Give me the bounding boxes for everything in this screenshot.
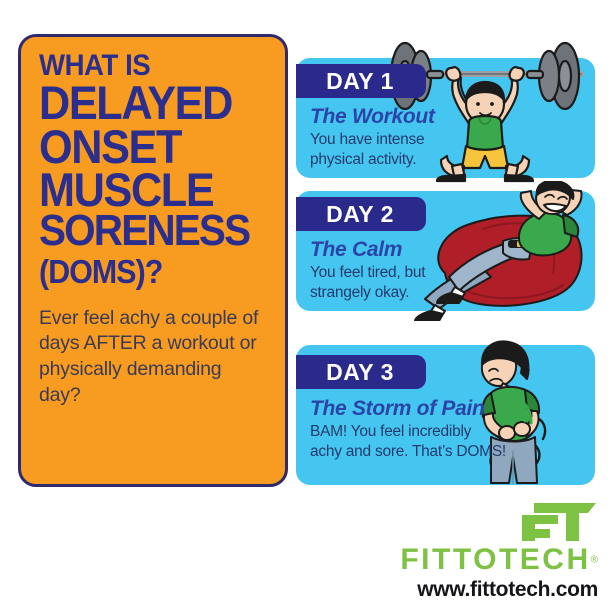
day-panel-3: DAY 3 The Storm of Pain BAM! You feel in… [296,345,595,485]
question-card-body: Ever feel achy a couple of days AFTER a … [39,306,267,409]
day-2-badge-label: DAY 2 [326,203,394,226]
day-2-body: You feel tired, but strangely okay. [310,263,425,303]
day-panel-1: DAY 1 The Workout You have intense physi… [296,58,595,178]
day-3-title: The Storm of Pain [310,398,506,420]
day-2-badge: DAY 2 [296,197,426,231]
heading-line-5: SORENESS [39,211,249,251]
day-2-text: The Calm You feel tired, but strangely o… [310,239,425,303]
ft-monogram-icon [514,501,598,543]
day-1-text: The Workout You have intense physical ac… [310,106,435,170]
day-panel-2: DAY 2 The Calm You feel tired, but stran… [296,191,595,311]
heading-line-2: DELAYED [39,81,249,124]
day-1-body: You have intense physical activity. [310,130,435,170]
logo-wordmark-row: FITTOTECH® [400,545,598,575]
day-3-text: The Storm of Pain BAM! You feel incredib… [310,398,506,462]
day-1-title: The Workout [310,106,435,128]
day-2-title: The Calm [310,239,425,261]
day-1-badge: DAY 1 [296,64,426,98]
heading-line-4: MUSCLE [39,168,249,211]
day-1-badge-label: DAY 1 [326,70,394,93]
infographic-canvas: WHAT IS DELAYED ONSET MUSCLE SORENESS (D… [0,0,614,614]
heading-line-6: (DOMS)? [39,255,249,288]
day-3-badge: DAY 3 [296,355,426,389]
heading-line-3: ONSET [39,125,249,168]
registered-trademark-icon: ® [591,555,598,566]
day-3-body: BAM! You feel incredibly achy and sore. … [310,422,506,462]
question-card: WHAT IS DELAYED ONSET MUSCLE SORENESS (D… [18,34,288,487]
brand-logo: FITTOTECH® www.fittotech.com [400,501,598,602]
logo-url: www.fittotech.com [400,578,598,602]
logo-wordmark: FITTOTECH [400,545,590,575]
day-3-badge-label: DAY 3 [326,361,394,384]
